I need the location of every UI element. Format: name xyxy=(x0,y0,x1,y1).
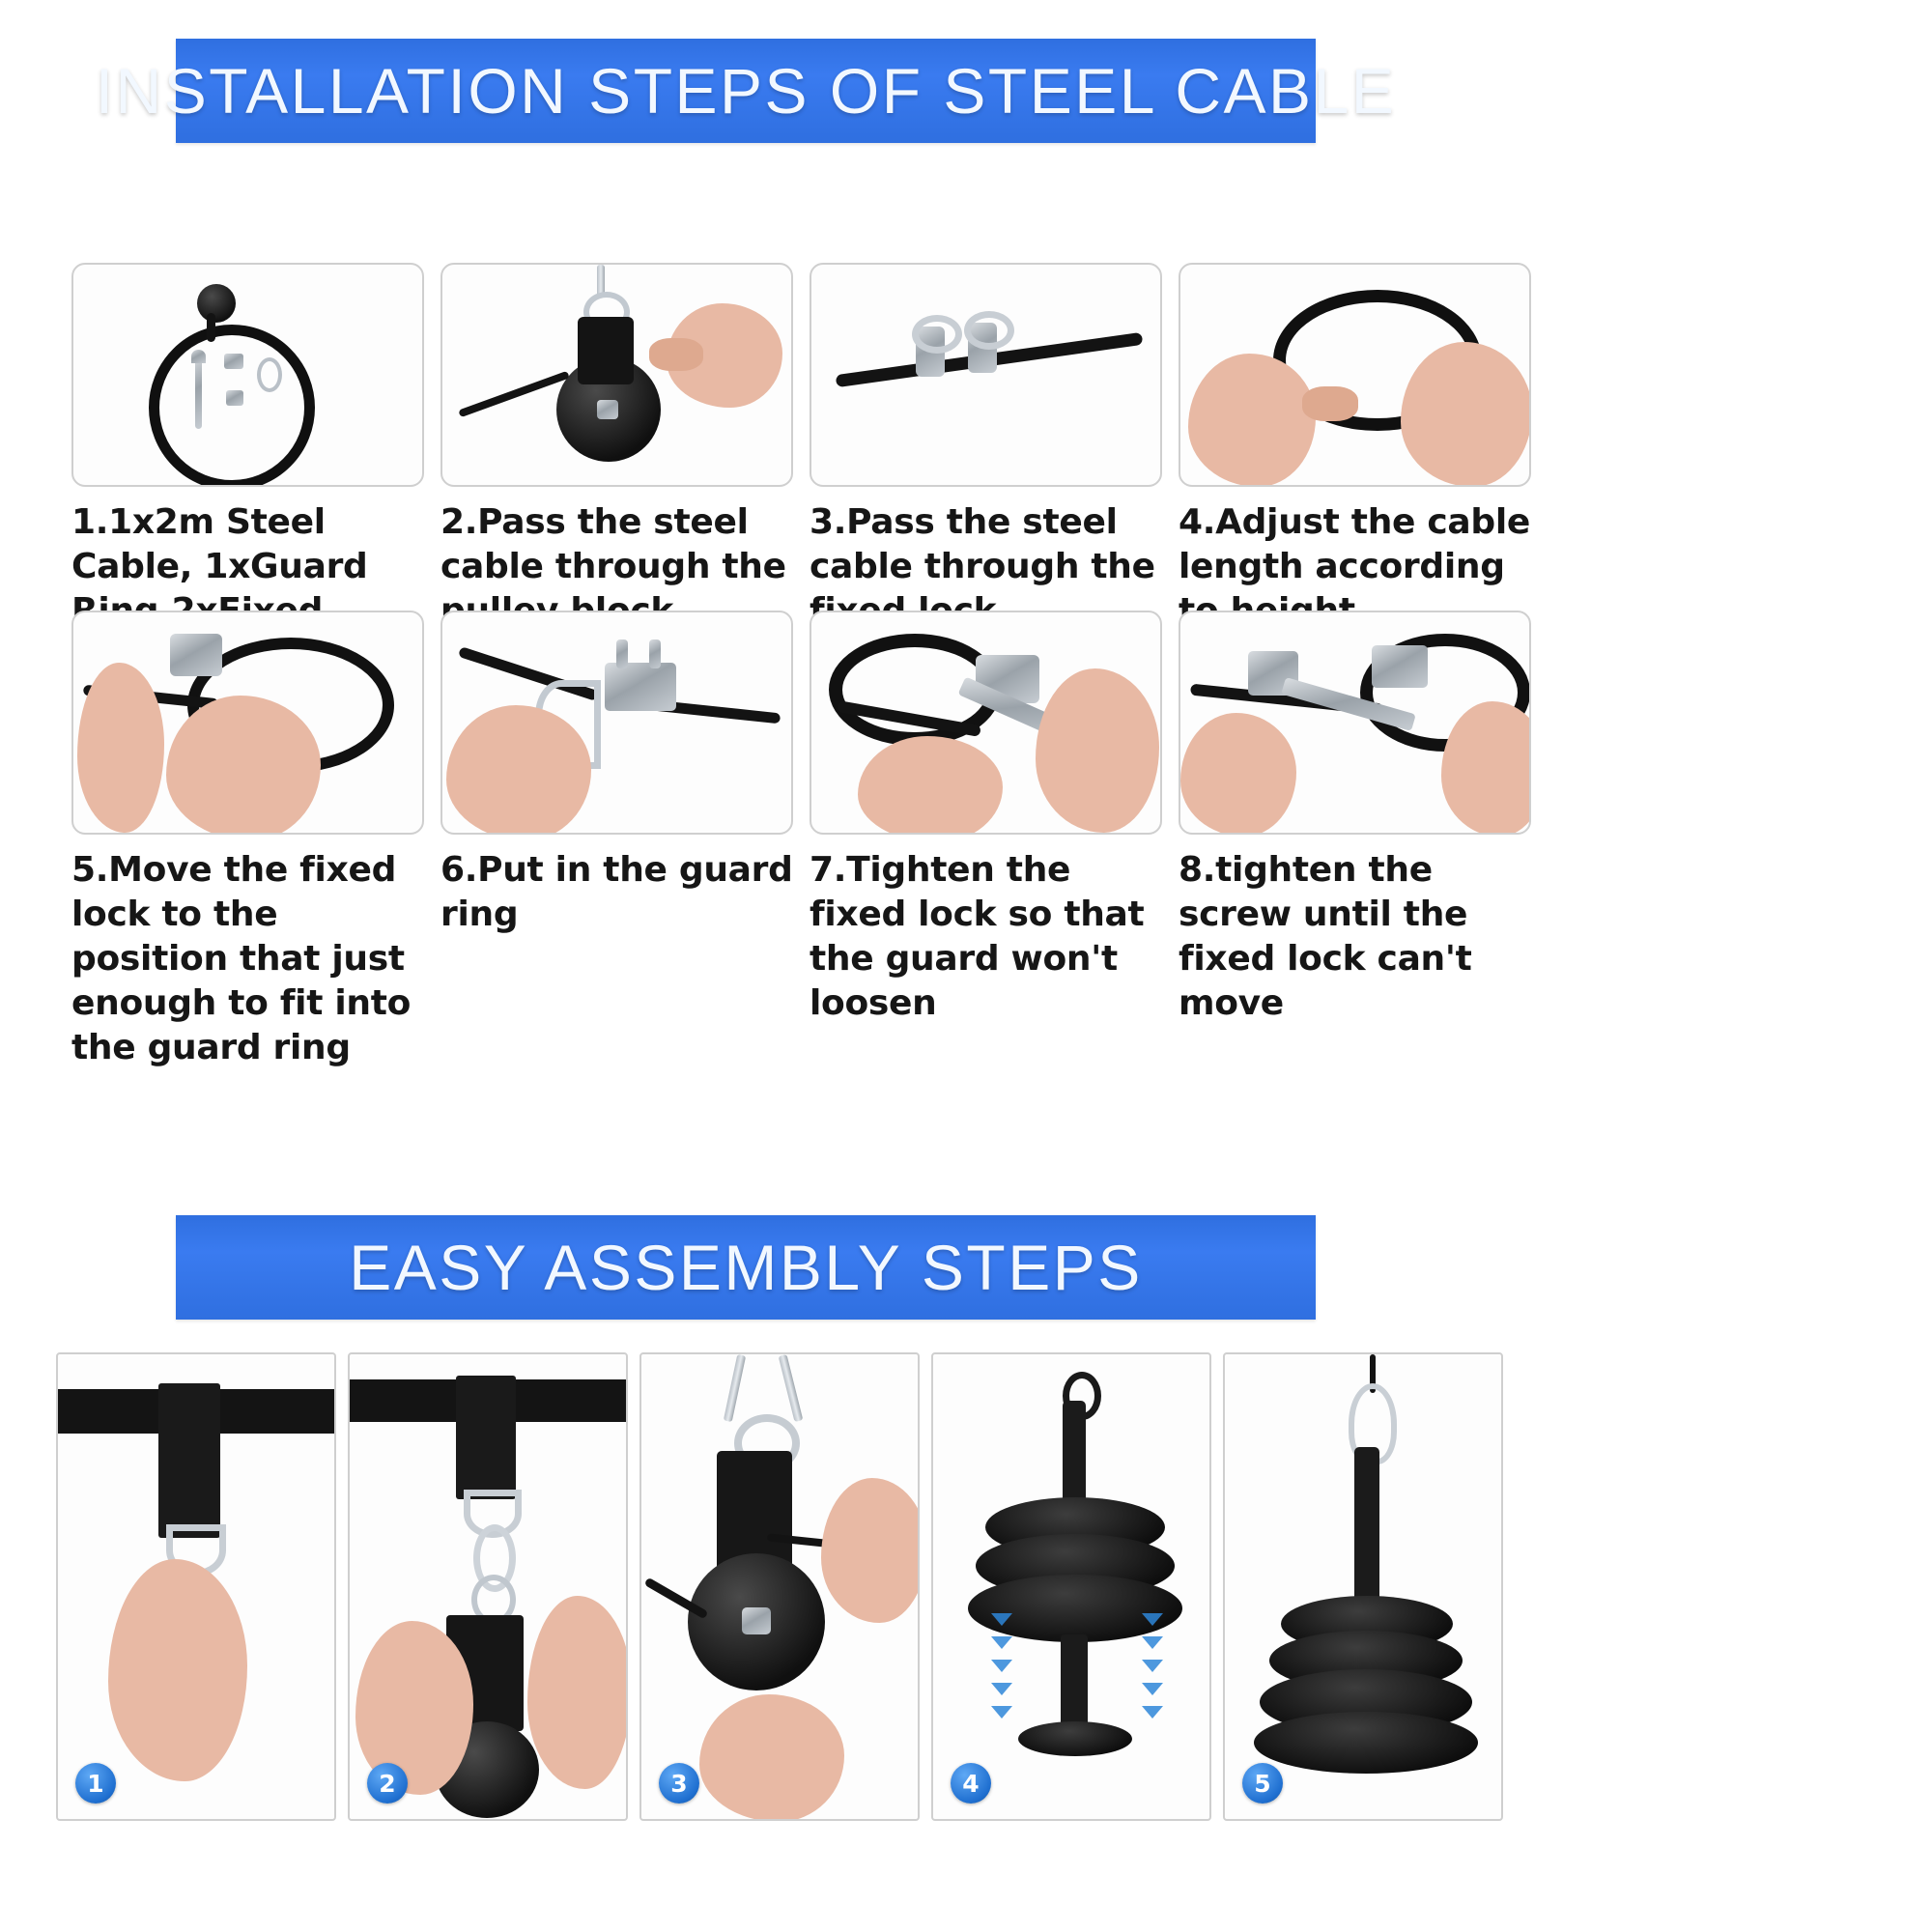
assembly-steps-row: 1 2 xyxy=(56,1352,1891,1821)
assembly-1-cell: 1 xyxy=(56,1352,336,1821)
weight-plates-loading-illustration xyxy=(933,1354,1209,1819)
parts-kit-illustration xyxy=(73,265,422,485)
installation-steps-row-2: 5.Move the fixed lock to the position th… xyxy=(71,611,1868,1070)
easy-assembly-banner-title: EASY ASSEMBLY STEPS xyxy=(349,1231,1143,1304)
assembly-4-badge: 4 xyxy=(951,1763,991,1804)
assembly-4-image: 4 xyxy=(931,1352,1211,1821)
step-6-caption: 6.Put in the guard ring xyxy=(440,848,793,937)
step-5-image xyxy=(71,611,424,835)
step-6-image xyxy=(440,611,793,835)
assembly-2-badge: 2 xyxy=(367,1763,408,1804)
strap-loop-illustration xyxy=(58,1354,334,1819)
easy-assembly-banner: EASY ASSEMBLY STEPS xyxy=(176,1215,1316,1320)
assembly-3-image: 3 xyxy=(639,1352,920,1821)
step-6-cell: 6.Put in the guard ring xyxy=(440,611,793,1070)
assembly-4-cell: 4 xyxy=(931,1352,1211,1821)
cable-length-adjust-illustration xyxy=(1180,265,1529,485)
installation-steps-banner: INSTALLATION STEPS OF STEEL CABLE xyxy=(176,39,1316,143)
assembly-1-badge: 1 xyxy=(75,1763,116,1804)
step-7-image xyxy=(810,611,1162,835)
loaded-weight-stack-illustration xyxy=(1225,1354,1501,1819)
fixed-lock-threading-illustration xyxy=(811,265,1160,485)
tighten-screw-illustration xyxy=(1180,612,1529,833)
pulley-threading-illustration xyxy=(442,265,791,485)
step-8-cell: 8.tighten the screw until the fixed lock… xyxy=(1179,611,1531,1070)
assembly-2-image: 2 xyxy=(348,1352,628,1821)
installation-steps-banner-title: INSTALLATION STEPS OF STEEL CABLE xyxy=(96,54,1397,128)
step-4-image xyxy=(1179,263,1531,487)
assembly-1-image: 1 xyxy=(56,1352,336,1821)
pulley-mount-illustration xyxy=(641,1354,918,1819)
assembly-5-cell: 5 xyxy=(1223,1352,1503,1821)
step-2-image xyxy=(440,263,793,487)
step-7-cell: 7.Tighten the fixed lock so that the gua… xyxy=(810,611,1162,1070)
step-8-image xyxy=(1179,611,1531,835)
assembly-5-image: 5 xyxy=(1223,1352,1503,1821)
step-5-caption: 5.Move the fixed lock to the position th… xyxy=(71,848,424,1070)
assembly-5-badge: 5 xyxy=(1242,1763,1283,1804)
step-7-caption: 7.Tighten the fixed lock so that the gua… xyxy=(810,848,1162,1026)
assembly-3-badge: 3 xyxy=(659,1763,699,1804)
carabiner-attach-illustration xyxy=(350,1354,626,1819)
step-5-cell: 5.Move the fixed lock to the position th… xyxy=(71,611,424,1070)
assembly-3-cell: 3 xyxy=(639,1352,920,1821)
step-1-image xyxy=(71,263,424,487)
step-8-caption: 8.tighten the screw until the fixed lock… xyxy=(1179,848,1531,1026)
move-fixed-lock-illustration xyxy=(73,612,422,833)
step-3-image xyxy=(810,263,1162,487)
infographic-page: INSTALLATION STEPS OF STEEL CABLE 1.1x2m… xyxy=(0,0,1932,1932)
assembly-2-cell: 2 xyxy=(348,1352,628,1821)
guard-ring-insert-illustration xyxy=(442,612,791,833)
tighten-fixed-lock-illustration xyxy=(811,612,1160,833)
